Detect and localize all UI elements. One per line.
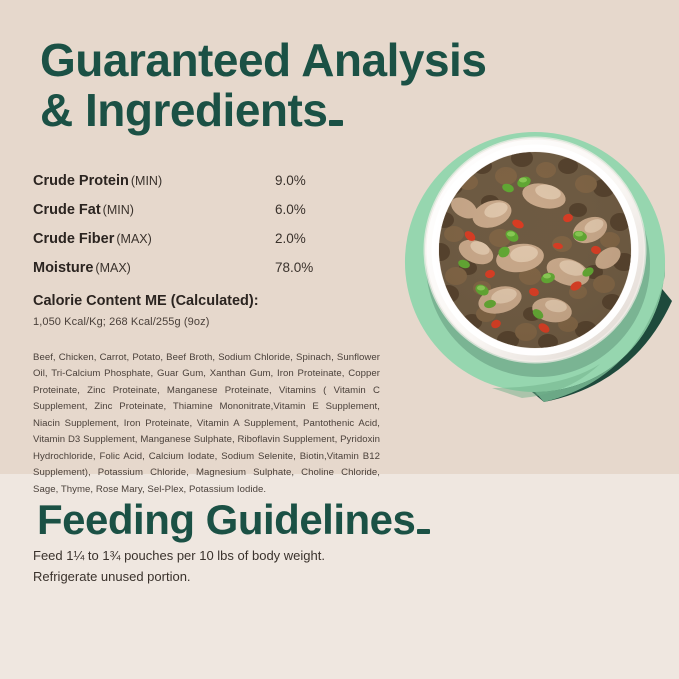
nutrient-name: Crude Fiber <box>33 231 114 247</box>
nutrient-name: Crude Protein <box>33 173 129 189</box>
table-row: Moisture(MAX) 78.0% <box>33 253 333 282</box>
page-title: Guaranteed Analysis& Ingredients <box>40 36 600 135</box>
feeding-title-end-dash-icon <box>417 529 430 534</box>
feeding-instruction-line-2: Refrigerate unused portion. <box>33 566 453 587</box>
feeding-guidelines-body: Feed 1¼ to 1¾ pouches per 10 lbs of body… <box>33 545 453 587</box>
feeding-instruction-line-1: Feed 1¼ to 1¾ pouches per 10 lbs of body… <box>33 545 453 566</box>
guaranteed-analysis-table: Crude Protein(MIN) 9.0% Crude Fat(MIN) 6… <box>33 166 333 282</box>
nutrient-value: 2.0% <box>275 224 306 253</box>
nutrient-qualifier: (MAX) <box>95 261 130 275</box>
nutrient-value: 6.0% <box>275 195 306 224</box>
title-end-dash-icon <box>329 120 343 125</box>
feeding-guidelines-title-text: Feeding Guidelines <box>37 496 415 543</box>
nutrient-qualifier: (MIN) <box>131 174 162 188</box>
calorie-content-label: Calorie Content ME (Calculated): <box>33 292 373 312</box>
product-info-page: Guaranteed Analysis& Ingredients Crude P… <box>0 0 679 679</box>
nutrient-value: 78.0% <box>275 253 313 282</box>
calorie-content-block: Calorie Content ME (Calculated): 1,050 K… <box>33 292 373 328</box>
feeding-guidelines-title: Feeding Guidelines <box>37 497 430 542</box>
page-title-line1: Guaranteed Analysis <box>40 34 486 86</box>
nutrient-name: Crude Fat <box>33 202 101 218</box>
table-row: Crude Fiber(MAX) 2.0% <box>33 224 333 253</box>
page-title-line2: & Ingredients <box>40 84 327 136</box>
calorie-content-value: 1,050 Kcal/Kg; 268 Kcal/255g (9oz) <box>33 316 373 328</box>
table-row: Crude Fat(MIN) 6.0% <box>33 195 333 224</box>
nutrient-qualifier: (MAX) <box>116 232 151 246</box>
nutrient-qualifier: (MIN) <box>103 203 134 217</box>
nutrient-value: 9.0% <box>275 166 306 195</box>
nutrient-name: Moisture <box>33 260 93 276</box>
ingredients-list: Beef, Chicken, Carrot, Potato, Beef Brot… <box>33 350 380 499</box>
table-row: Crude Protein(MIN) 9.0% <box>33 166 333 195</box>
